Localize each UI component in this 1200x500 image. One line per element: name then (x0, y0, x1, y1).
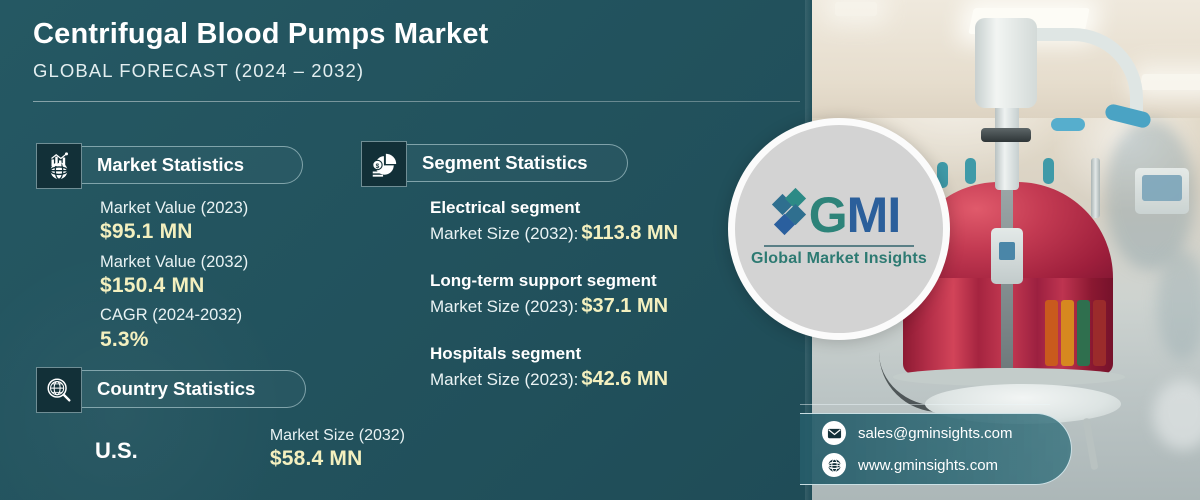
stat-row: CAGR (2024-2032) 5.3% (100, 305, 248, 352)
pump-color-strip (1061, 300, 1074, 366)
contact-website: www.gminsights.com (858, 457, 998, 474)
pump-valve (965, 158, 976, 184)
logo-wordmark: GMI (809, 190, 900, 240)
contact-website-row[interactable]: www.gminsights.com (822, 453, 1071, 477)
country-statistics-row: U.S. Market Size (2032) $58.4 MN (95, 426, 405, 472)
contact-email-row[interactable]: sales@gminsights.com (822, 421, 1071, 445)
medical-monitor (1135, 168, 1189, 214)
pump-color-strip (1045, 300, 1058, 366)
pump-valve (1043, 158, 1054, 184)
globe-icon (822, 453, 846, 477)
stat-value: $58.4 MN (270, 446, 405, 472)
logo-divider (764, 245, 914, 247)
ceiling-light-icon (1140, 74, 1200, 90)
pie-chart-money-icon: $ (361, 141, 407, 187)
segment-line: Market Size (2023):$37.1 MN (430, 295, 678, 318)
content-panel: Centrifugal Blood Pumps Market GLOBAL FO… (0, 0, 812, 500)
section-header-segment-statistics: $ Segment Statistics (363, 144, 628, 182)
ceiling-light-icon (835, 2, 877, 16)
segment-label: Market Size (2032): (430, 224, 578, 243)
pump-collar (981, 128, 1031, 142)
stat-label: Market Size (2032) (270, 426, 405, 446)
diamond-cluster-icon (774, 191, 804, 239)
section-header-market-statistics: Market Statistics (38, 146, 303, 184)
infographic-root: Centrifugal Blood Pumps Market GLOBAL FO… (0, 0, 1200, 500)
pump-stand-rod (1091, 158, 1100, 218)
segment-line: Market Size (2032):$113.8 MN (430, 222, 678, 245)
logo-tagline: Global Market Insights (751, 250, 927, 268)
segment-value: $37.1 MN (581, 295, 668, 317)
segment-title: Long-term support segment (430, 271, 678, 291)
contact-email: sales@gminsights.com (858, 425, 1012, 442)
contact-panel: sales@gminsights.com www.gminsights.com (800, 413, 1072, 485)
section-title-country-statistics: Country Statistics (97, 378, 255, 400)
logo-letters-mi: MI (847, 187, 901, 243)
logo-letter-g: G (809, 187, 847, 243)
country-value-group: Market Size (2032) $58.4 MN (270, 426, 405, 472)
country-name: U.S. (95, 426, 138, 464)
stat-label: Market Value (2023) (100, 198, 248, 219)
segment-value: $113.8 MN (581, 222, 678, 244)
pump-hose-connector (1051, 118, 1085, 131)
page-title: Centrifugal Blood Pumps Market (33, 18, 489, 51)
svg-text:$: $ (376, 163, 380, 170)
market-statistics-list: Market Value (2023) $95.1 MN Market Valu… (100, 198, 248, 359)
segment-value: $42.6 MN (581, 368, 668, 390)
pump-sensor-clip (991, 228, 1023, 284)
globe-search-icon (36, 367, 82, 413)
segment-label: Market Size (2023): (430, 297, 578, 316)
stat-value: 5.3% (100, 327, 248, 353)
segment-label: Market Size (2023): (430, 370, 578, 389)
pump-color-strip (1077, 300, 1090, 366)
header-divider (33, 101, 800, 102)
stat-label: Market Value (2032) (100, 252, 248, 273)
stat-row: Market Value (2023) $95.1 MN (100, 198, 248, 245)
segment-title: Hospitals segment (430, 344, 678, 364)
stat-value: $95.1 MN (100, 219, 248, 245)
gmi-logo: GMI Global Market Insights (728, 118, 950, 340)
contact-top-divider (800, 404, 1050, 405)
stat-row: Market Value (2032) $150.4 MN (100, 252, 248, 299)
stat-label: CAGR (2024-2032) (100, 305, 248, 326)
pump-motor-head (975, 18, 1037, 108)
pump-color-strip (1093, 300, 1106, 366)
segment-item: Electrical segment Market Size (2032):$1… (430, 198, 678, 245)
segment-title: Electrical segment (430, 198, 678, 218)
envelope-icon (822, 421, 846, 445)
segment-line: Market Size (2023):$42.6 MN (430, 368, 678, 391)
segment-item: Long-term support segment Market Size (2… (430, 271, 678, 318)
globe-chart-icon (36, 143, 82, 189)
photo-blur-blob (1157, 250, 1200, 360)
segment-item: Hospitals segment Market Size (2023):$42… (430, 344, 678, 391)
section-title-segment-statistics: Segment Statistics (422, 152, 588, 174)
segment-statistics-list: Electrical segment Market Size (2032):$1… (430, 198, 678, 417)
section-header-country-statistics: Country Statistics (38, 370, 306, 408)
section-title-market-statistics: Market Statistics (97, 154, 244, 176)
logo-mark: GMI (774, 190, 900, 240)
page-subtitle: GLOBAL FORECAST (2024 – 2032) (33, 60, 364, 82)
stat-value: $150.4 MN (100, 273, 248, 299)
